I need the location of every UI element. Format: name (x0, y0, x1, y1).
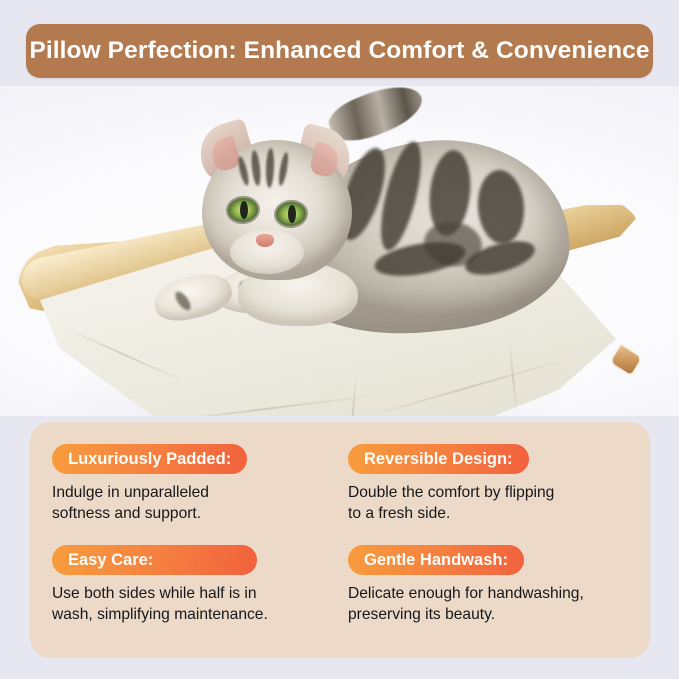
feature-badge-gentle-handwash: Gentle Handwash: (348, 545, 524, 575)
feature-badge-easy-care: Easy Care: (52, 545, 257, 575)
product-photo (0, 86, 679, 416)
feature-item-luxuriously-padded: Luxuriously Padded: Indulge in unparalle… (52, 444, 338, 539)
feature-badge-reversible-design: Reversible Design: (348, 444, 529, 474)
feature-badge-luxuriously-padded: Luxuriously Padded: (52, 444, 247, 474)
feature-text-reversible-design: Double the comfort by flipping to a fres… (348, 483, 634, 525)
cat-illustration (178, 94, 578, 384)
feature-text-luxuriously-padded: Indulge in unparalleled softness and sup… (52, 483, 338, 525)
feature-item-easy-care: Easy Care: Use both sides while half is … (52, 545, 338, 640)
cat-pupil-right (288, 205, 296, 223)
features-grid: Luxuriously Padded: Indulge in unparalle… (30, 422, 650, 658)
feature-text-gentle-handwash: Delicate enough for handwashing, preserv… (348, 584, 634, 626)
feature-item-gentle-handwash: Gentle Handwash: Delicate enough for han… (348, 545, 634, 640)
header-banner: Pillow Perfection: Enhanced Comfort & Co… (26, 24, 653, 78)
feature-item-reversible-design: Reversible Design: Double the comfort by… (348, 444, 634, 539)
cat-nose (256, 234, 274, 247)
page-title: Pillow Perfection: Enhanced Comfort & Co… (29, 37, 649, 65)
features-panel: Luxuriously Padded: Indulge in unparalle… (30, 422, 650, 658)
feature-text-easy-care: Use both sides while half is in wash, si… (52, 584, 338, 626)
cat-pupil-left (240, 201, 248, 219)
